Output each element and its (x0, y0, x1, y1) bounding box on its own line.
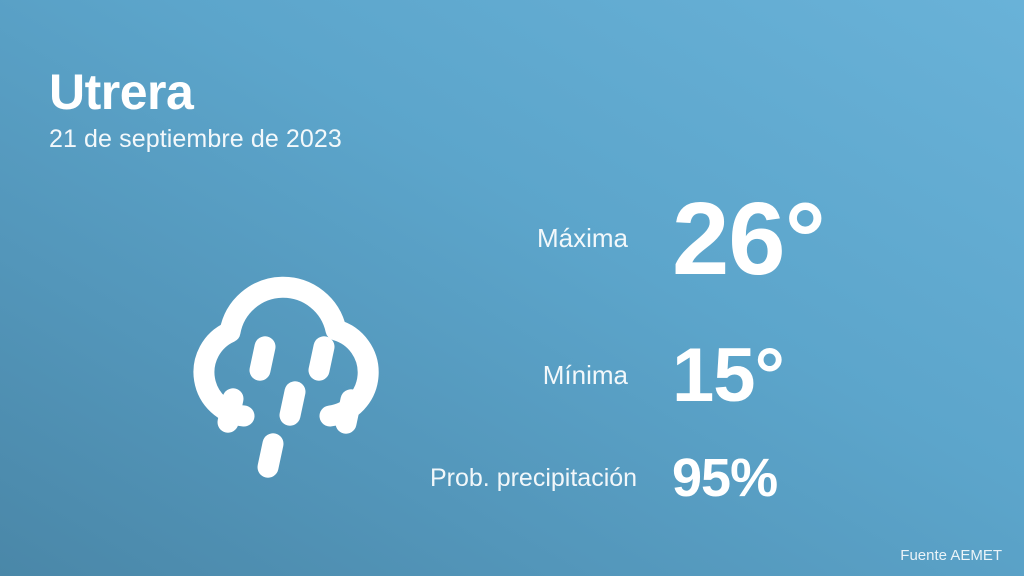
rain-cloud-icon (172, 248, 404, 480)
stat-row-precipitacion: Prob. precipitación 95% (430, 443, 950, 513)
stat-row-minima: Mínima 15° (430, 308, 950, 443)
source-attribution: Fuente AEMET (900, 547, 1002, 564)
stat-value-minima: 15° (672, 338, 784, 414)
rain-cloud-icon-graphic (172, 248, 404, 480)
raindrops-group (216, 334, 364, 479)
weather-card: Utrera 21 de septiembre de 2023 Máxima 2… (0, 0, 1024, 576)
stat-value-precipitacion: 95% (672, 451, 777, 505)
city-name: Utrera (49, 66, 342, 119)
forecast-date: 21 de septiembre de 2023 (49, 125, 342, 154)
stat-label-precipitacion: Prob. precipitación (430, 464, 672, 493)
stat-label-minima: Mínima (430, 360, 672, 391)
stat-value-maxima: 26° (672, 187, 825, 290)
stat-label-maxima: Máxima (430, 223, 672, 254)
weather-stats: Máxima 26° Mínima 15° Prob. precipitació… (430, 168, 950, 513)
location-header: Utrera 21 de septiembre de 2023 (49, 66, 342, 154)
stat-row-maxima: Máxima 26° (430, 168, 950, 308)
